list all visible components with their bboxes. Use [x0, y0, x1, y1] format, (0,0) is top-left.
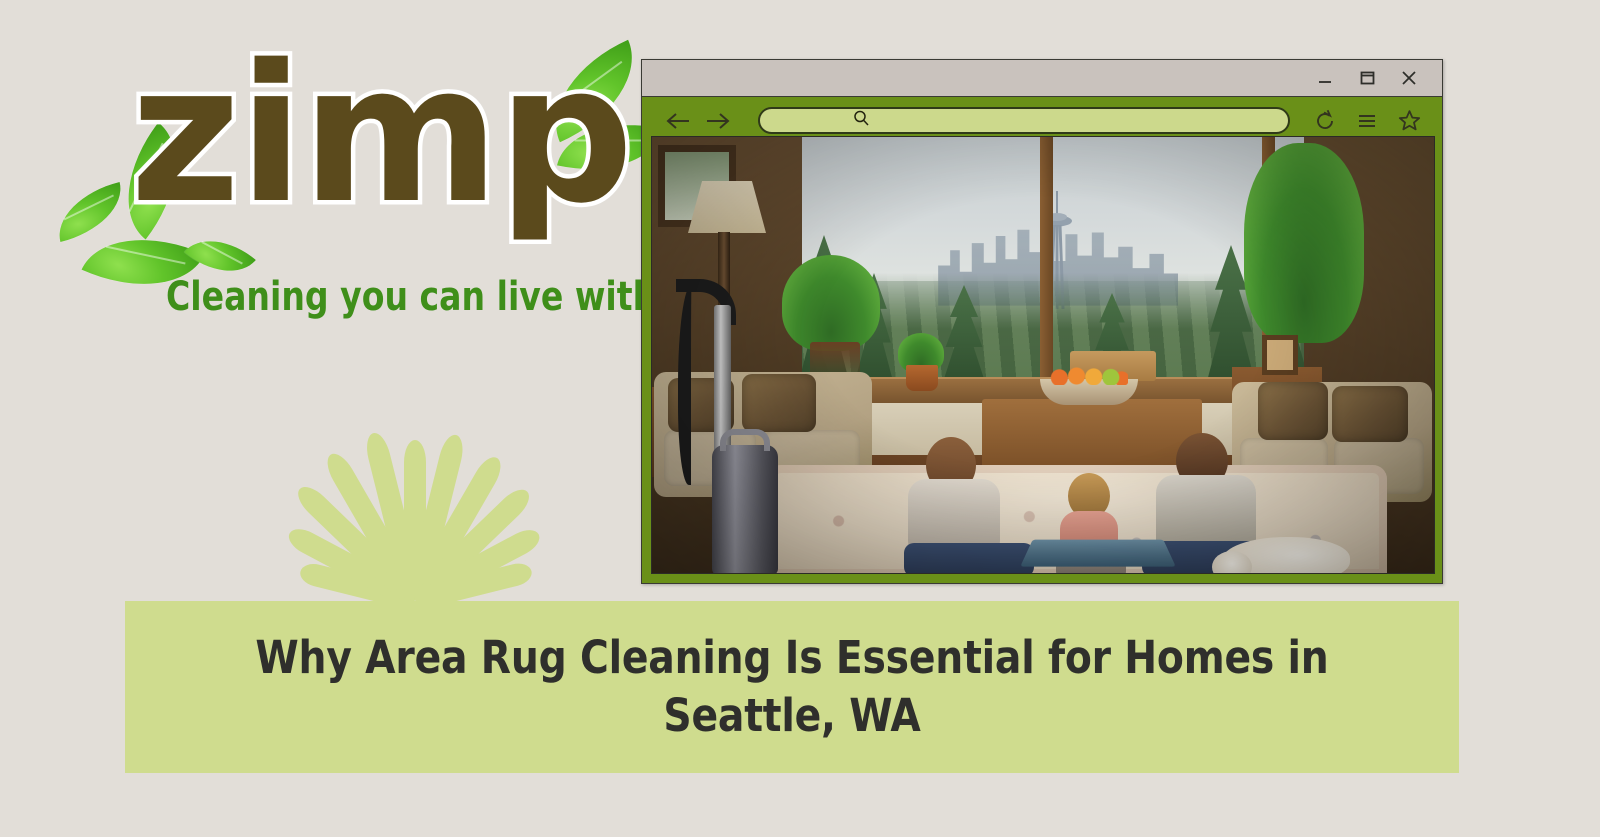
maximize-button[interactable]: [1346, 61, 1388, 95]
vacuum-canister: [712, 445, 778, 574]
leaf-icon-left-2: [50, 182, 131, 242]
window-mullion: [1040, 137, 1053, 383]
mother-figure: [904, 437, 1044, 574]
back-button[interactable]: [660, 102, 698, 140]
page-title: Why Area Rug Cleaning Is Essential for H…: [213, 629, 1371, 744]
living-room-photo: [652, 137, 1434, 573]
browser-window: [641, 59, 1443, 584]
close-button[interactable]: [1388, 61, 1430, 95]
throw-pillow: [1258, 382, 1328, 440]
menu-button[interactable]: [1346, 102, 1388, 140]
sunburst-graphic: [235, 335, 595, 600]
father-body: [1156, 475, 1256, 551]
title-banner: Why Area Rug Cleaning Is Essential for H…: [125, 601, 1459, 773]
board-game: [1020, 540, 1176, 567]
tall-houseplant: [1244, 143, 1364, 343]
browser-viewport: [651, 136, 1435, 574]
houseplant: [782, 255, 880, 351]
minimize-button[interactable]: [1304, 61, 1346, 95]
search-icon: [852, 109, 871, 133]
fruit-bowl: [1040, 379, 1138, 405]
mother-body: [908, 479, 1000, 551]
small-plant-pot: [906, 365, 938, 391]
photo-frame: [1262, 335, 1298, 375]
bookmark-button[interactable]: [1388, 102, 1430, 140]
forward-button[interactable]: [698, 102, 736, 140]
white-cat: [1222, 537, 1350, 574]
brand-tagline: Cleaning you can live with!: [166, 274, 671, 320]
reload-button[interactable]: [1304, 102, 1346, 140]
throw-pillow: [1332, 386, 1408, 442]
brand-logo: zimp Cleaning you can live with!: [40, 22, 640, 312]
brand-wordmark: zimp: [130, 40, 632, 230]
mother-legs: [904, 543, 1034, 574]
search-input[interactable]: [758, 107, 1290, 134]
browser-title-bar: [642, 60, 1442, 97]
window-seattle-view: [792, 137, 1314, 385]
throw-pillow: [742, 374, 816, 432]
